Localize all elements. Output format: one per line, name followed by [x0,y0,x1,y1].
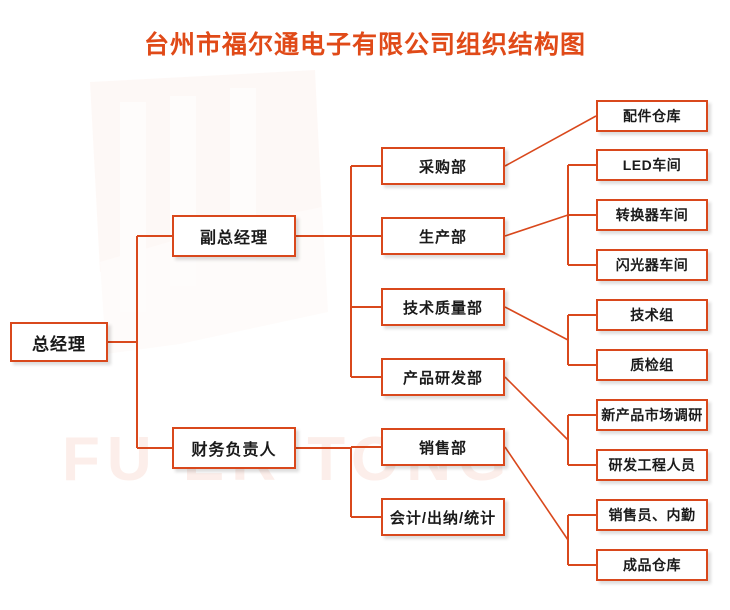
org-node-label: 质检组 [630,355,674,375]
org-node-label: 副总经理 [200,224,268,248]
org-node-label: 总经理 [32,330,86,355]
org-node-label: 技术组 [630,305,674,325]
org-node-label: 销售部 [419,437,467,458]
org-node-gm[interactable]: 总经理 [10,322,108,362]
org-node-label: 成品仓库 [623,555,681,575]
org-node-techGrp[interactable]: 技术组 [596,299,708,331]
org-node-convShop[interactable]: 转换器车间 [596,199,708,231]
edge-purchase-diagonal [505,116,596,166]
org-node-partsWh[interactable]: 配件仓库 [596,100,708,132]
org-node-label: 闪光器车间 [616,255,689,275]
org-node-label: 新产品市场调研 [601,405,703,425]
org-node-qcGrp[interactable]: 质检组 [596,349,708,381]
org-node-vgm[interactable]: 副总经理 [172,215,296,257]
org-node-ledShop[interactable]: LED车间 [596,149,708,181]
org-node-label: 转换器车间 [616,205,689,225]
org-node-label: 研发工程人员 [609,455,696,475]
org-node-produce[interactable]: 生产部 [381,217,505,255]
org-chart-canvas: FU ER TONG 台州市福尔通电子有限公司组织结构图 总经理副总经理财务负责… [0,0,730,610]
org-node-flashShop[interactable]: 闪光器车间 [596,249,708,281]
org-node-rnd[interactable]: 产品研发部 [381,358,505,396]
org-node-quality[interactable]: 技术质量部 [381,288,505,326]
page-title: 台州市福尔通电子有限公司组织结构图 [0,25,730,61]
org-node-purchase[interactable]: 采购部 [381,147,505,185]
edge-quality-diagonal [505,307,568,340]
org-node-salesStaff[interactable]: 销售员、内勤 [596,499,708,531]
org-node-label: 生产部 [419,226,467,247]
edge-sales-diagonal [505,447,568,540]
org-node-fin[interactable]: 财务负责人 [172,427,296,469]
org-node-mktRsrch[interactable]: 新产品市场调研 [596,399,708,431]
org-node-label: LED车间 [623,155,682,175]
org-node-label: 产品研发部 [403,367,483,388]
org-node-label: 会计/出纳/统计 [390,507,496,528]
org-node-account[interactable]: 会计/出纳/统计 [381,498,505,536]
org-node-rndStaff[interactable]: 研发工程人员 [596,449,708,481]
org-node-fgWh[interactable]: 成品仓库 [596,549,708,581]
edge-produce-diagonal [505,215,568,236]
org-node-label: 技术质量部 [403,297,483,318]
org-node-label: 配件仓库 [623,106,681,126]
org-node-sales[interactable]: 销售部 [381,428,505,466]
org-node-label: 财务负责人 [191,436,276,460]
edge-rnd-diagonal [505,377,568,440]
org-node-label: 销售员、内勤 [609,505,696,525]
org-node-label: 采购部 [419,156,467,177]
